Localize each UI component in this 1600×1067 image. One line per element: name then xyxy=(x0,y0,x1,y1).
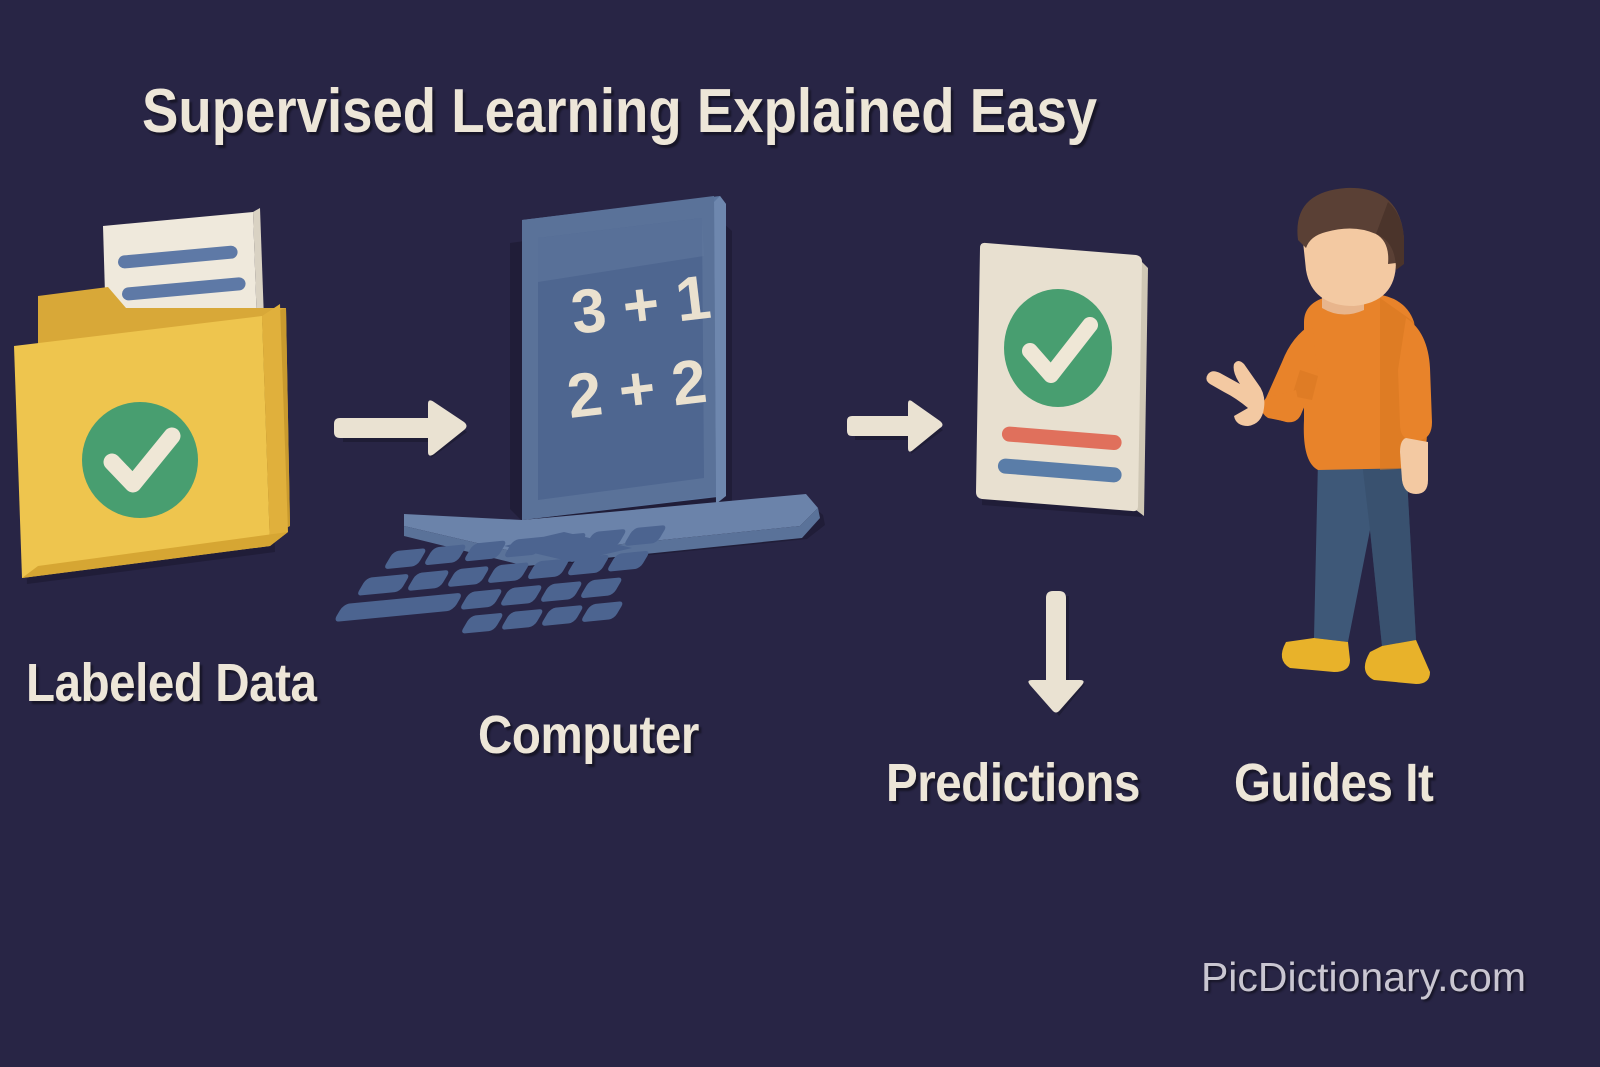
person-legs xyxy=(1314,460,1416,646)
infographic-canvas: Supervised Learning Explained Easy xyxy=(0,0,1600,1067)
arrow-right-icon-2 xyxy=(846,396,946,456)
check-badge-icon xyxy=(82,402,198,518)
step-label-predictions: Predictions xyxy=(886,752,1140,814)
check-badge-icon xyxy=(1004,289,1112,407)
person-shoes xyxy=(1282,638,1430,684)
watermark-picdictionary: PicDictionary.com xyxy=(1201,954,1526,1001)
step-label-labeled-data: Labeled Data xyxy=(26,652,316,714)
laptop-keys xyxy=(333,525,668,634)
arrow-down-icon xyxy=(1020,586,1092,718)
folder-with-document-and-check-icon xyxy=(0,196,330,596)
person-head xyxy=(1297,188,1404,306)
person-pointing-hand xyxy=(1206,361,1264,426)
step-label-guides-it: Guides It xyxy=(1234,752,1433,814)
laptop-icon: 3 + 1 2 + 2 xyxy=(386,196,836,596)
person-pointing-icon xyxy=(1230,190,1600,710)
person-right-arm xyxy=(1398,318,1432,494)
page-title: Supervised Learning Explained Easy xyxy=(142,76,1097,147)
prediction-card-with-check-icon xyxy=(950,220,1165,530)
step-label-computer: Computer xyxy=(478,704,699,766)
